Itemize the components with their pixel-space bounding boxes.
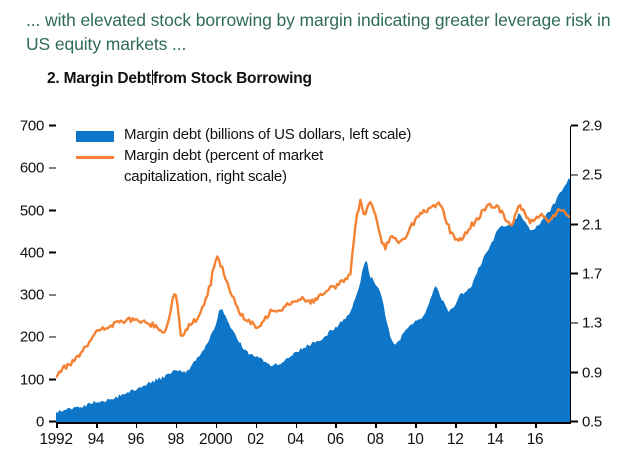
legend-area-swatch-icon xyxy=(76,131,114,142)
x-axis-tick-mark-96 xyxy=(136,422,138,428)
left-axis-tick-label: 200 xyxy=(20,329,44,346)
right-axis-tick-mark xyxy=(571,421,578,423)
page-title-after-cursor: from Stock Borrowing xyxy=(153,70,312,87)
left-axis: 0100200300400500600700 xyxy=(0,110,56,449)
left-axis-tick-500: 500 xyxy=(20,202,56,219)
x-axis-tick-mark-12 xyxy=(455,422,457,428)
header-caption-line1: ... with elevated stock borrowing by mar… xyxy=(26,10,561,30)
x-axis-line xyxy=(56,422,571,424)
x-axis-tick-label-02: 02 xyxy=(247,431,264,449)
right-axis-tick-1-3: 1.3 xyxy=(571,315,602,332)
right-axis-tick-1-7: 1.7 xyxy=(571,266,602,283)
right-axis-tick-label: 0.9 xyxy=(582,364,602,381)
right-axis-tick-2-1: 2.1 xyxy=(571,216,602,233)
x-axis-tick-label-14: 14 xyxy=(487,431,504,449)
left-axis-tick-mark xyxy=(49,167,56,169)
x-axis-tick-mark-02 xyxy=(256,422,258,428)
left-axis-tick-0: 0 xyxy=(36,414,56,431)
left-axis-tick-600: 600 xyxy=(20,160,56,177)
left-axis-tick-mark xyxy=(49,379,56,381)
header-caption: ... with elevated stock borrowing by mar… xyxy=(26,8,622,56)
left-axis-tick-label: 500 xyxy=(20,202,44,219)
right-axis-tick-mark xyxy=(571,125,578,127)
x-axis-tick-label-12: 12 xyxy=(447,431,464,449)
right-axis-tick-label: 2.9 xyxy=(582,118,602,135)
legend-line-swatch-icon xyxy=(76,156,114,159)
x-axis-tick-mark-08 xyxy=(375,422,377,428)
right-axis-tick-mark xyxy=(571,372,578,374)
x-axis-tick-label-98: 98 xyxy=(167,431,184,449)
left-axis-tick-label: 600 xyxy=(20,160,44,177)
left-axis-tick-mark xyxy=(49,294,56,296)
legend-label-margin-debt-billions: Margin debt (billions of US dollars, lef… xyxy=(124,126,411,143)
right-axis-tick-label: 2.5 xyxy=(582,167,602,184)
left-axis-tick-200: 200 xyxy=(20,329,56,346)
left-axis-tick-label: 0 xyxy=(36,414,44,431)
left-axis-tick-700: 700 xyxy=(20,118,56,135)
x-axis-tick-mark-14 xyxy=(495,422,497,428)
x-axis-tick-label-94: 94 xyxy=(88,431,105,449)
x-axis-tick-label-96: 96 xyxy=(128,431,145,449)
x-axis-tick-label-2000: 2000 xyxy=(199,431,232,449)
x-axis-tick-label-08: 08 xyxy=(367,431,384,449)
legend-item-margin-debt-percent: Margin debt (percent of market xyxy=(76,147,496,168)
right-axis-tick-0-5: 0.5 xyxy=(571,414,602,431)
left-axis-tick-mark xyxy=(49,209,56,211)
right-axis-tick-label: 0.5 xyxy=(582,414,602,431)
left-axis-tick-100: 100 xyxy=(20,371,56,388)
x-axis-tick-mark-94 xyxy=(96,422,98,428)
left-axis-tick-mark xyxy=(49,421,56,423)
x-axis-tick-label-04: 04 xyxy=(287,431,304,449)
right-axis-line xyxy=(570,126,572,423)
x-axis-tick-label-10: 10 xyxy=(407,431,424,449)
chart-page: ... with elevated stock borrowing by mar… xyxy=(0,0,640,449)
x-axis-tick-label-1992: 1992 xyxy=(39,431,72,449)
legend-item-margin-debt-percent-cont: capitalization, right scale) xyxy=(76,168,496,189)
x-axis-tick-label-16: 16 xyxy=(527,431,544,449)
right-axis-tick-label: 1.3 xyxy=(582,315,602,332)
legend-label-margin-debt-percent-line2: capitalization, right scale) xyxy=(124,168,287,185)
page-title: 2. Margin Debtfrom Stock Borrowing xyxy=(47,70,312,88)
left-axis-tick-400: 400 xyxy=(20,244,56,261)
x-axis-tick-label-06: 06 xyxy=(327,431,344,449)
legend-item-margin-debt-billions: Margin debt (billions of US dollars, lef… xyxy=(76,126,496,147)
page-title-before-cursor: 2. Margin Debt xyxy=(47,70,151,87)
chart-figure: 0100200300400500600700 0.50.91.31.72.12.… xyxy=(0,110,640,449)
right-axis-tick-label: 2.1 xyxy=(582,216,602,233)
right-axis-tick-2-5: 2.5 xyxy=(571,167,602,184)
chart-legend: Margin debt (billions of US dollars, lef… xyxy=(76,126,496,189)
x-axis-tick-mark-2000 xyxy=(216,422,218,428)
right-axis-tick-mark xyxy=(571,322,578,324)
right-axis-tick-mark xyxy=(571,174,578,176)
x-axis-tick-mark-06 xyxy=(335,422,337,428)
x-axis-tick-mark-04 xyxy=(296,422,298,428)
right-axis-tick-mark xyxy=(571,224,578,226)
right-axis-tick-label: 1.7 xyxy=(582,266,602,283)
left-axis-tick-label: 100 xyxy=(20,371,44,388)
x-axis-tick-mark-1992 xyxy=(56,422,58,428)
left-axis-tick-mark xyxy=(49,252,56,254)
left-axis-tick-300: 300 xyxy=(20,287,56,304)
left-axis-tick-label: 300 xyxy=(20,287,44,304)
left-axis-tick-label: 700 xyxy=(20,118,44,135)
right-axis: 0.50.91.31.72.12.52.9 xyxy=(571,110,640,449)
right-axis-tick-mark xyxy=(571,273,578,275)
left-axis-tick-mark xyxy=(49,125,56,127)
right-axis-tick-0-9: 0.9 xyxy=(571,364,602,381)
legend-label-margin-debt-percent-line1: Margin debt (percent of market xyxy=(124,147,323,164)
x-axis-tick-mark-98 xyxy=(176,422,178,428)
x-axis-tick-mark-10 xyxy=(415,422,417,428)
left-axis-tick-mark xyxy=(49,336,56,338)
x-axis-tick-mark-16 xyxy=(535,422,537,428)
right-axis-tick-2-9: 2.9 xyxy=(571,118,602,135)
left-axis-tick-label: 400 xyxy=(20,244,44,261)
